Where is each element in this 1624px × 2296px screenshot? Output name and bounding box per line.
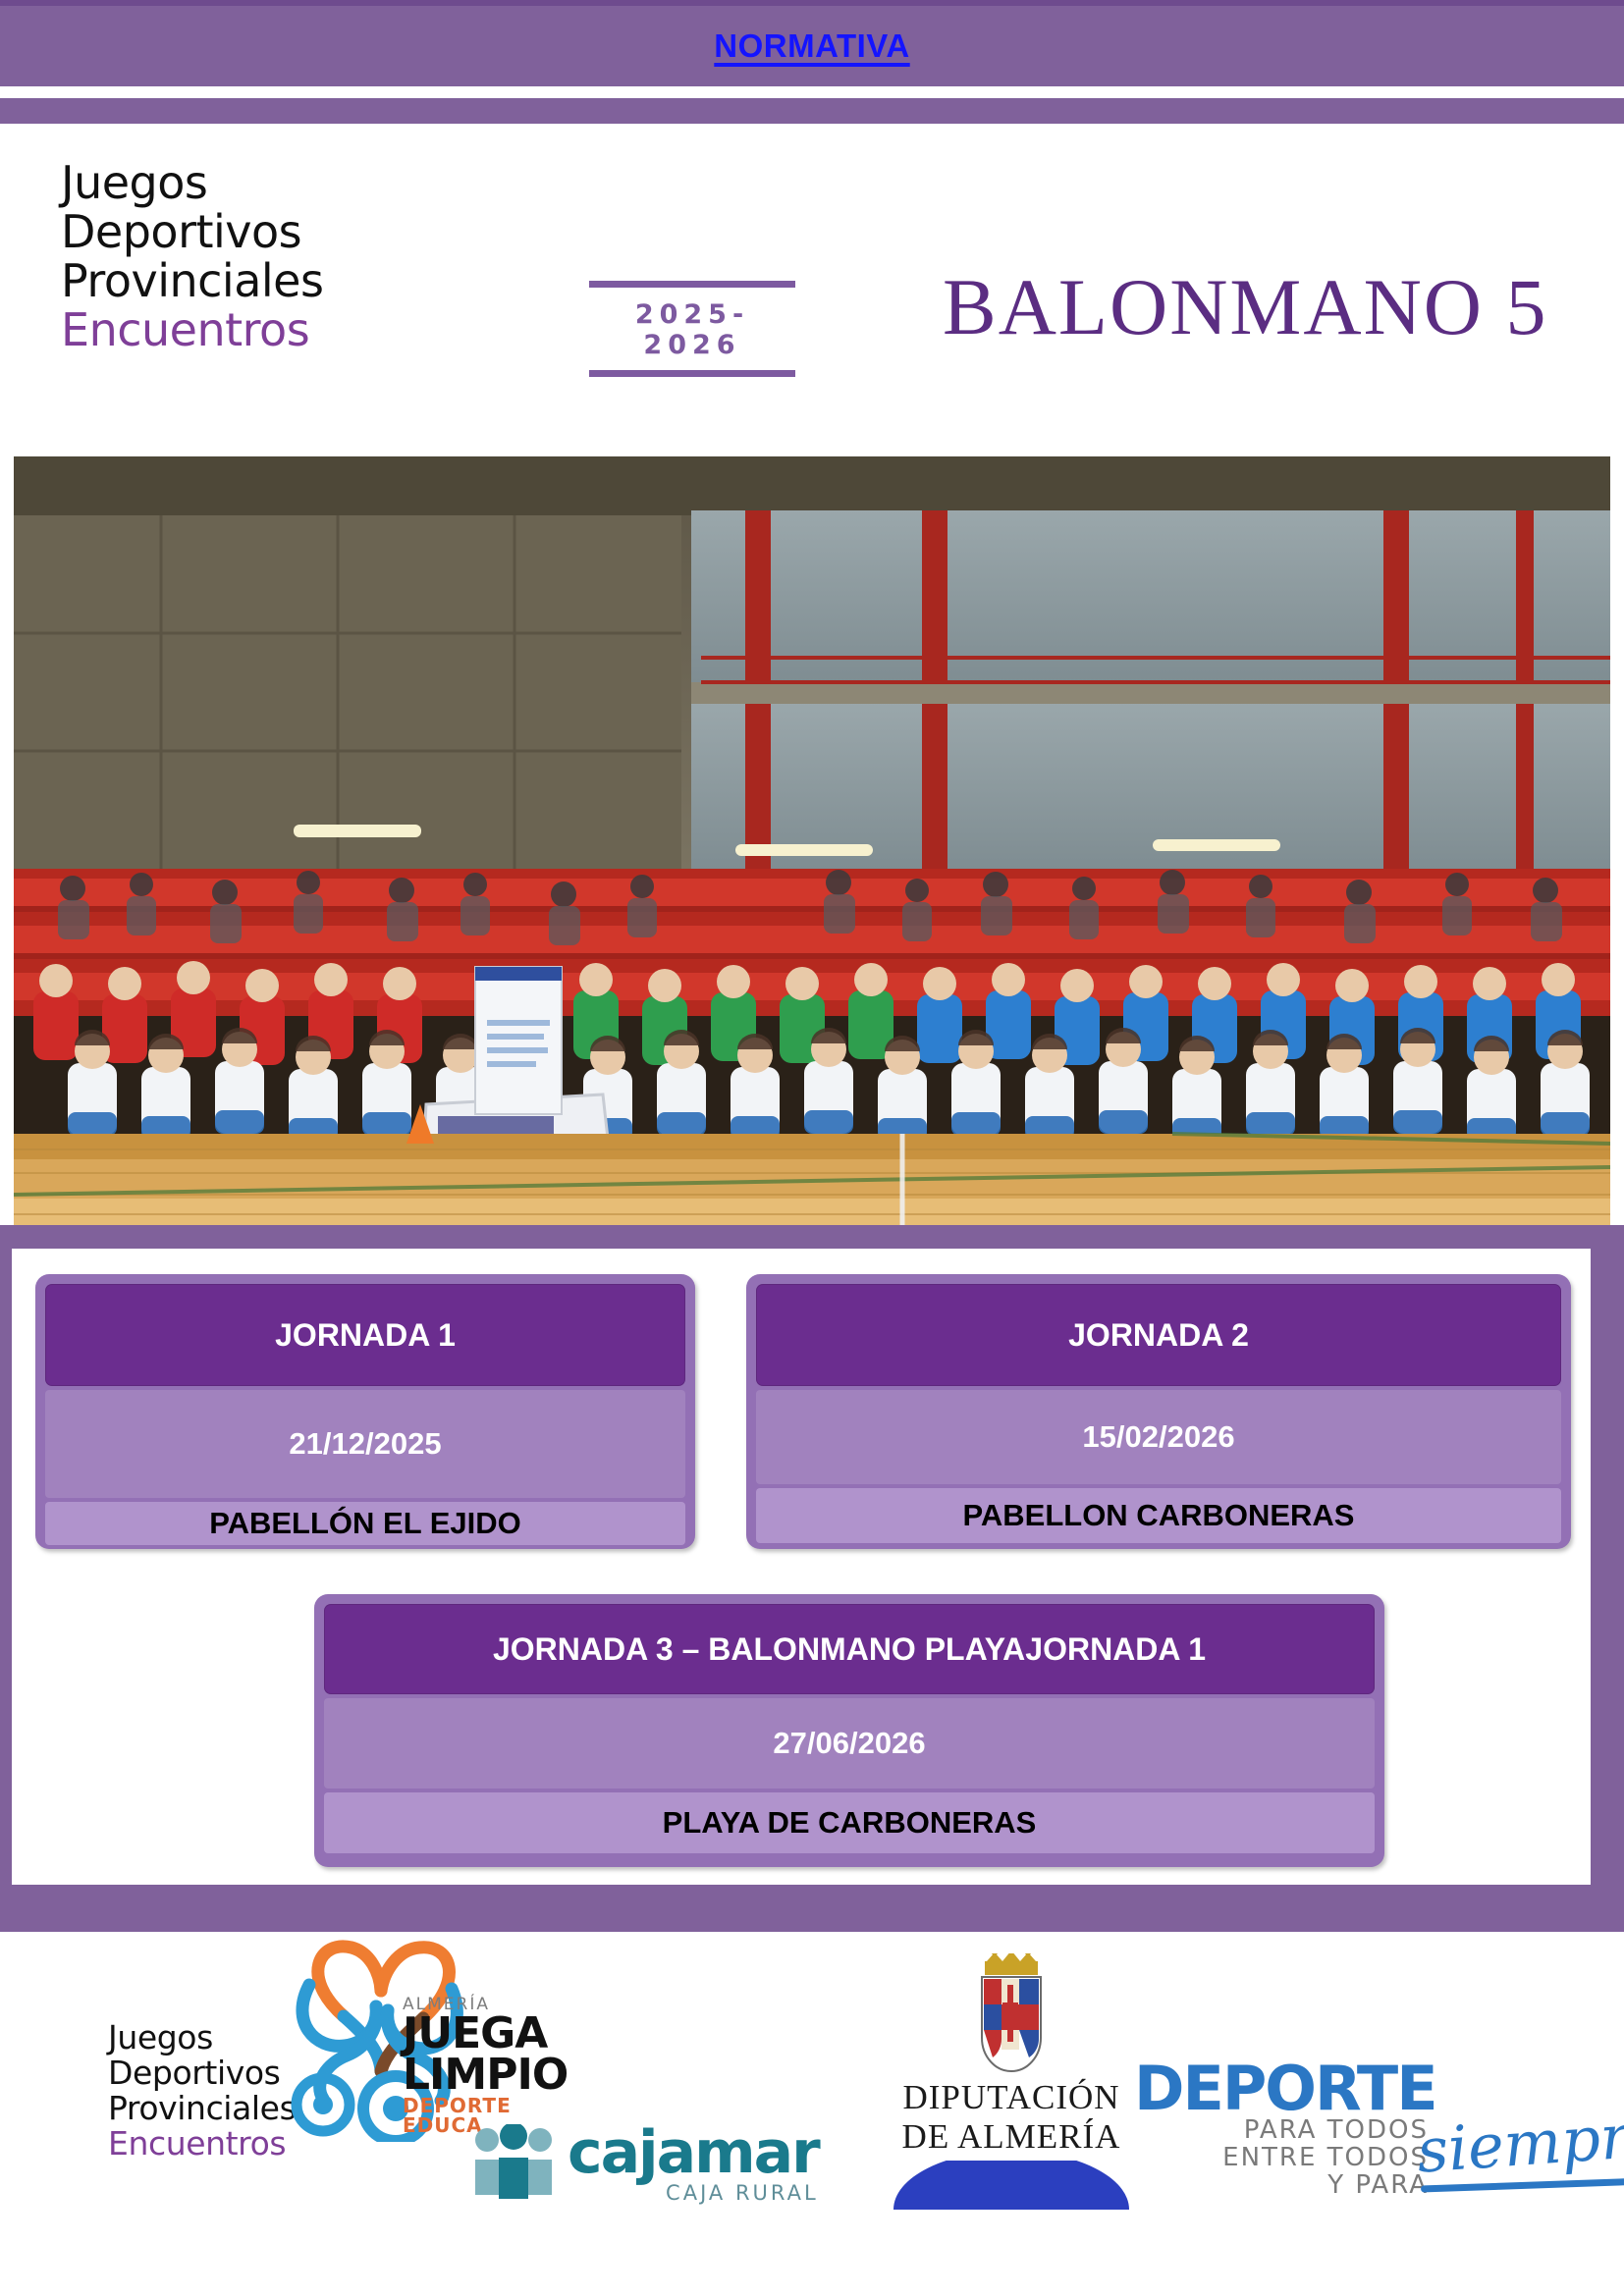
jornada-card-2-date: 15/02/2026 xyxy=(756,1390,1561,1484)
jornada-card-1[interactable]: JORNADA 1 21/12/2025 PABELLÓN EL EJIDO xyxy=(35,1274,695,1549)
page-title: BALONMANO 5 xyxy=(943,261,1548,353)
jornada-card-1-title: JORNADA 1 xyxy=(45,1284,685,1386)
deporte-siempre-logo: DEPORTE PARA TODOS ENTRE TODOS Y PARA si… xyxy=(1134,2061,1546,2199)
deporte-tagline-3: Y PARA xyxy=(1134,2171,1429,2199)
jornada-card-3-title: JORNADA 3 – BALONMANO PLAYAJORNADA 1 xyxy=(324,1604,1375,1694)
season-rule-bottom xyxy=(589,370,795,377)
jornada-card-3[interactable]: JORNADA 3 – BALONMANO PLAYAJORNADA 1 27/… xyxy=(314,1594,1384,1867)
season-rule-top xyxy=(589,281,795,288)
jornada-card-3-date: 27/06/2026 xyxy=(324,1698,1375,1789)
deporte-tagline-2: ENTRE TODOS xyxy=(1134,2144,1429,2171)
secondary-purple-bar xyxy=(0,98,1624,124)
jornada-card-2-title: JORNADA 2 xyxy=(756,1284,1561,1386)
diputacion-line-2: DE ALMERÍA xyxy=(889,2117,1134,2157)
diputacion-logo: DIPUTACIÓN DE ALMERÍA xyxy=(889,1953,1134,2212)
jdp-logo: Juegos Deportivos Provinciales Encuentro… xyxy=(61,158,473,354)
jornada-card-2-venue: PABELLON CARBONERAS xyxy=(756,1488,1561,1543)
diputacion-line-1: DIPUTACIÓN xyxy=(889,2078,1134,2117)
jornada-card-1-date: 21/12/2025 xyxy=(45,1390,685,1498)
event-photo xyxy=(14,456,1610,1225)
brand-header: Juegos Deportivos Provinciales Encuentro… xyxy=(0,124,1624,456)
juega-limpio-text: ALMERÍA JUEGA LIMPIO DEPORTE EDUCA xyxy=(403,1997,568,2135)
jdp-logo-line-3: Provinciales xyxy=(61,256,473,305)
juega-limpio-logo: ALMERÍA JUEGA LIMPIO DEPORTE EDUCA xyxy=(250,1926,545,2142)
season-badge: 2025-2026 xyxy=(589,281,795,377)
season-years: 2025-2026 xyxy=(589,288,795,370)
juega-limpio-word-2: LIMPIO xyxy=(403,2055,568,2096)
jornada-card-1-venue: PABELLÓN EL EJIDO xyxy=(45,1502,685,1545)
cajamar-logo: cajamar CAJA RURAL xyxy=(471,2124,819,2205)
coat-of-arms-icon xyxy=(957,1953,1065,2073)
juega-limpio-word-1: JUEGA xyxy=(403,2013,568,2055)
deporte-word: DEPORTE xyxy=(1134,2061,1546,2116)
jdp-logo-line-2: Deportivos xyxy=(61,207,473,256)
three-people-icon xyxy=(471,2124,556,2201)
blue-arc-icon xyxy=(889,2161,1134,2212)
jdp-logo-line-1: Juegos xyxy=(61,158,473,207)
jornada-card-3-venue: PLAYA DE CARBONERAS xyxy=(324,1792,1375,1853)
normativa-link[interactable]: NORMATIVA xyxy=(0,6,1624,86)
cajamar-name: cajamar xyxy=(568,2124,819,2181)
event-photo-illustration xyxy=(14,456,1610,1225)
jdp-logo-line-4: Encuentros xyxy=(61,305,473,354)
jornada-card-2[interactable]: JORNADA 2 15/02/2026 PABELLON CARBONERAS xyxy=(746,1274,1571,1549)
footer-sponsors: Juegos Deportivos Provinciales Encuentro… xyxy=(0,1932,1624,2296)
